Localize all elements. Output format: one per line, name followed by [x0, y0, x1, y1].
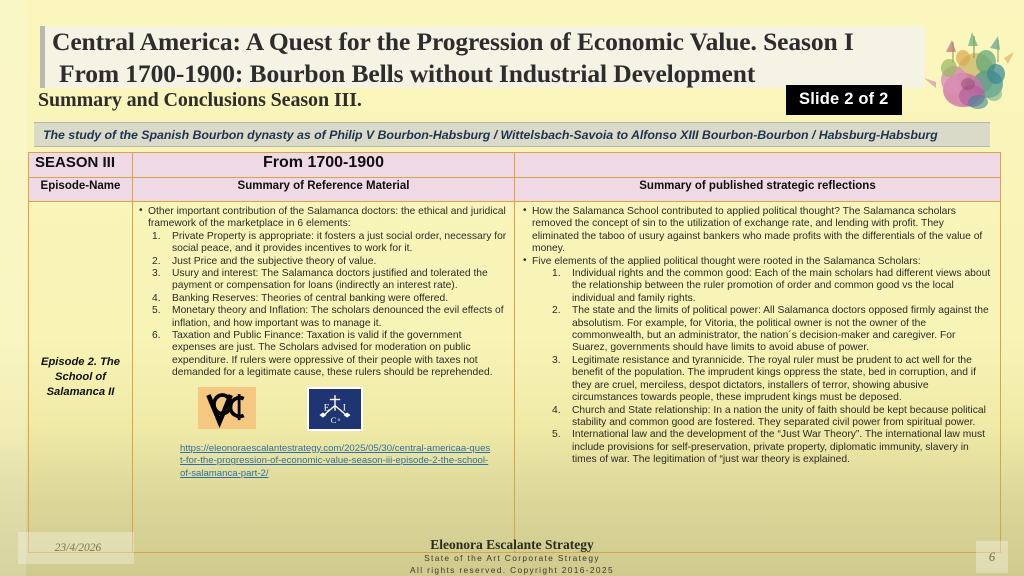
footer-tagline: State of the Art Corporate Strategy: [0, 552, 1024, 564]
dynasty-band-text: The study of the Spanish Bourbon dynasty…: [34, 128, 938, 142]
header-summary-reflections: Summary of published strategic reflectio…: [515, 178, 1001, 202]
footer-brand: Eleonora Escalante Strategy: [0, 538, 1024, 552]
left-item-5: Monetary theory and Inflation: The schol…: [138, 305, 507, 330]
voc-logo-icon: [198, 387, 256, 429]
header-blank: [515, 153, 1001, 178]
right-item-4: Church and State relationship: In a nati…: [522, 405, 993, 430]
floral-decoration-icon: [916, 22, 1020, 130]
dynasty-band: The study of the Spanish Bourbon dynasty…: [34, 122, 990, 147]
page-title: Central America: A Quest for the Progres…: [52, 26, 932, 90]
left-edge-band: [0, 0, 26, 576]
header-season: SEASON III: [29, 153, 133, 178]
svg-text:I: I: [343, 403, 346, 413]
logo-row: E I C o: [198, 387, 507, 431]
header-period: From 1700-1900: [133, 153, 515, 178]
right-bullet-list-1: How the Salamanca School contributed to …: [522, 206, 993, 268]
cell-strategic-reflections: How the Salamanca School contributed to …: [515, 202, 1001, 553]
svg-text:E: E: [324, 403, 330, 413]
left-item-4: Banking Reserves: Theories of central ba…: [138, 293, 507, 305]
cell-episode-name: Episode 2. The School of Salamanca II: [29, 202, 133, 553]
left-bullet-list: Other important contribution of the Sala…: [138, 206, 507, 231]
source-url-link[interactable]: https://eleonoraescalantestrategy.com/20…: [180, 443, 492, 481]
right-item-2: The state and the limits of political po…: [522, 305, 993, 355]
left-item-3: Usury and interest: The Salamanca doctor…: [138, 268, 507, 293]
eic-logo-icon: E I C o: [307, 387, 363, 431]
cell-reference-material: Other important contribution of the Sala…: [133, 202, 515, 553]
left-item-2: Just Price and the subjective theory of …: [138, 256, 507, 268]
header-episode-name: Episode-Name: [29, 178, 133, 202]
footer-page-number: 6: [976, 550, 1008, 565]
footer-copyright: All rights reserved. Copyright 2016-2025: [0, 564, 1024, 576]
slide-counter-badge: Slide 2 of 2: [786, 85, 902, 115]
left-item-6: Taxation and Public Finance: Taxation is…: [138, 330, 507, 380]
header-summary-reference: Summary of Reference Material: [133, 178, 515, 202]
left-numbered-list: Private Property is appropriate: it fost…: [138, 231, 507, 380]
title-line-1: Central America: A Quest for the Progres…: [52, 26, 932, 58]
left-item-1: Private Property is appropriate: it fost…: [138, 231, 507, 256]
table-header-row-2: Episode-Name Summary of Reference Materi…: [29, 178, 1001, 202]
slide-canvas: Central America: A Quest for the Progres…: [0, 0, 1024, 576]
left-bullet-1: Other important contribution of the Sala…: [138, 206, 507, 231]
table-row: Episode 2. The School of Salamanca II Ot…: [29, 202, 1001, 553]
right-bullet-2: Five elements of the applied political t…: [522, 256, 993, 268]
svg-text:o: o: [338, 417, 341, 423]
page-subtitle: Summary and Conclusions Season III.: [38, 89, 362, 112]
svg-text:C: C: [331, 415, 337, 425]
footer-center: Eleonora Escalante Strategy State of the…: [0, 538, 1024, 576]
right-item-1: Individual rights and the common good: E…: [522, 268, 993, 305]
table-header-row-1: SEASON III From 1700-1900: [29, 153, 1001, 178]
right-item-3: Legitimate resistance and tyrannicide. T…: [522, 355, 993, 405]
right-numbered-list: Individual rights and the common good: E…: [522, 268, 993, 467]
content-table: SEASON III From 1700-1900 Episode-Name S…: [28, 152, 1001, 553]
right-bullet-1: How the Salamanca School contributed to …: [522, 206, 993, 256]
right-item-5: International law and the development of…: [522, 429, 993, 466]
